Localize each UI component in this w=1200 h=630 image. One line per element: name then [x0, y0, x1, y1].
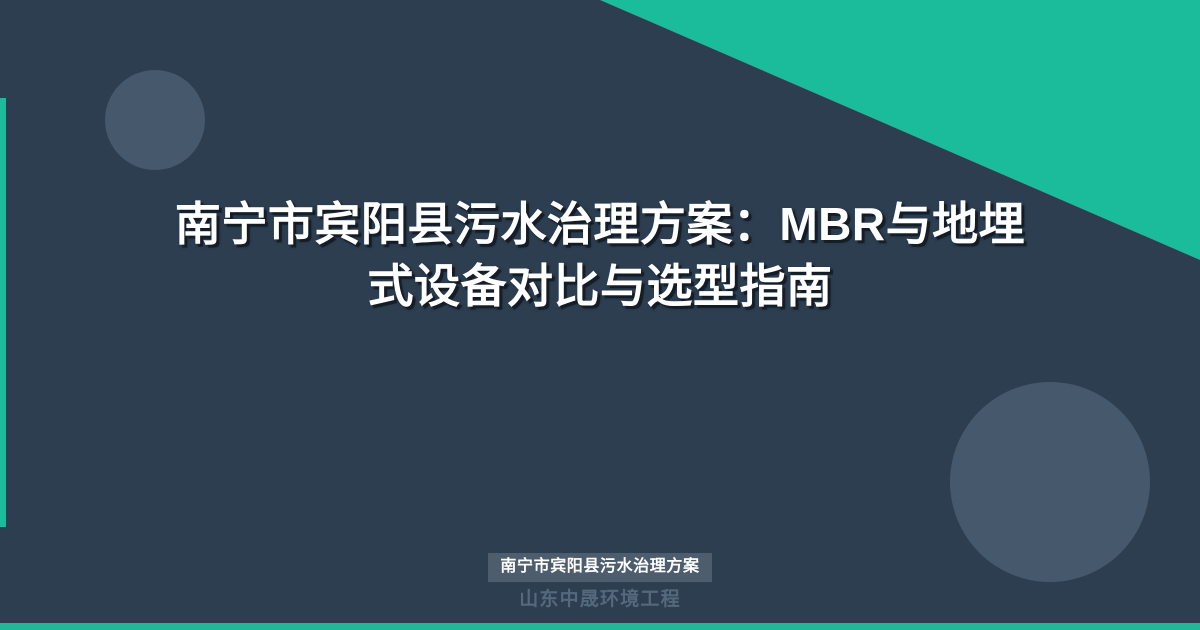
page-title-line-1: 南宁市宾阳县污水治理方案：MBR与地埋 [175, 198, 1025, 250]
footer: 南宁市宾阳县污水治理方案 山东中晟环境工程 [0, 553, 1200, 612]
footer-badge: 南宁市宾阳县污水治理方案 [488, 553, 711, 582]
title-block: 南宁市宾阳县污水治理方案：MBR与地埋式设备对比与选型指南 [0, 0, 1200, 510]
footer-brand-name: 山东中晟环境工程 [519, 589, 681, 612]
page-title: 南宁市宾阳县污水治理方案：MBR与地埋式设备对比与选型指南 [175, 193, 1025, 317]
page-title-line-2: 式设备对比与选型指南 [367, 260, 832, 312]
poster-canvas: 南宁市宾阳县污水治理方案：MBR与地埋式设备对比与选型指南 南宁市宾阳县污水治理… [0, 0, 1200, 630]
bottom-accent-bar [0, 623, 1200, 630]
